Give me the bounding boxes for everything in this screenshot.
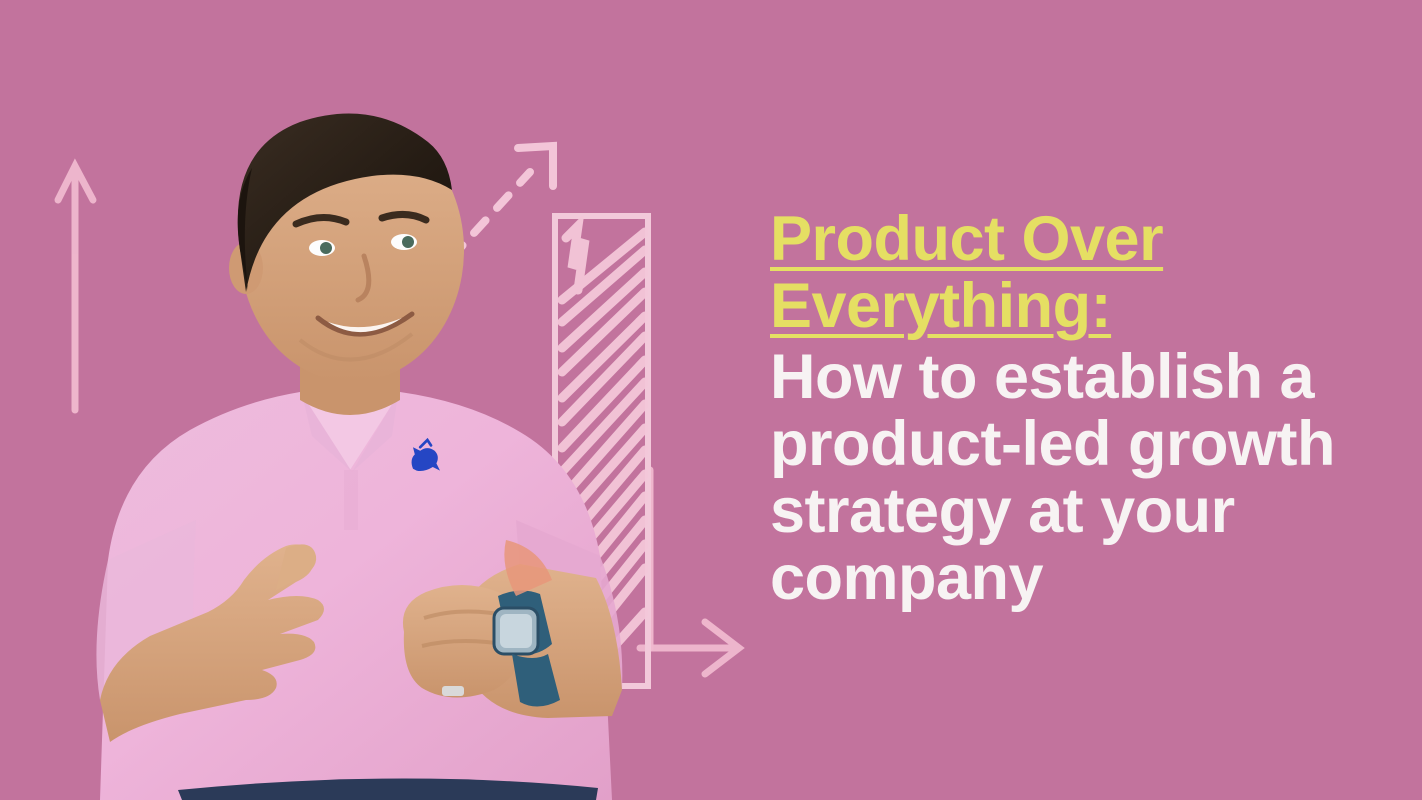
headline-block: Product Over Everything: How to establis… — [770, 206, 1370, 612]
promo-card: Product Over Everything: How to establis… — [0, 0, 1422, 800]
presenter-photo — [0, 0, 700, 800]
headline-body-line-2: product-led growth — [770, 411, 1370, 478]
headline-body-line-1: How to establish a — [770, 344, 1370, 411]
headline-subtitle: How to establish a product-led growth st… — [770, 344, 1370, 612]
headline-emphasis-line-2: Everything: — [770, 273, 1370, 340]
headline-emphasis-line-1: Product Over — [770, 206, 1370, 273]
headline-body-line-4: company — [770, 545, 1370, 612]
headline-body-line-3: strategy at your — [770, 478, 1370, 545]
head — [229, 114, 464, 382]
